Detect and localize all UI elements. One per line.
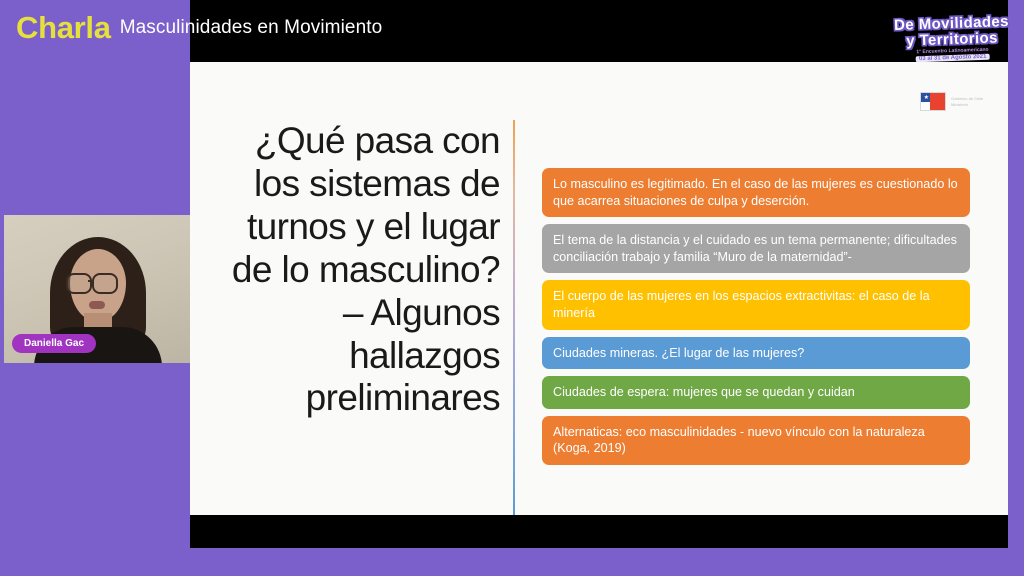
bottom-purple-frame bbox=[0, 548, 1024, 576]
chile-flag-icon: ★ bbox=[920, 92, 946, 111]
glasses-bridge bbox=[88, 280, 94, 282]
event-logo-dates: 03 al 31 de Agosto 2021 bbox=[916, 53, 990, 62]
glasses-right-lens bbox=[92, 273, 118, 294]
flag-star-icon: ★ bbox=[924, 95, 929, 101]
finding-box: El cuerpo de las mujeres en los espacios… bbox=[542, 280, 970, 329]
findings-list: Lo masculino es legitimado. En el caso d… bbox=[542, 168, 970, 465]
header-title: Charla Masculinidades en Movimiento bbox=[16, 10, 382, 46]
finding-box: Ciudades de espera: mujeres que se queda… bbox=[542, 376, 970, 409]
finding-box: El tema de la distancia y el cuidado es … bbox=[542, 224, 970, 273]
finding-box: Lo masculino es legitimado. En el caso d… bbox=[542, 168, 970, 217]
gov-mark-line2: Ministerio bbox=[951, 102, 983, 108]
slide-title: ¿Qué pasa con los sistemas de turnos y e… bbox=[210, 120, 500, 420]
right-purple-frame bbox=[1008, 0, 1024, 576]
slide-bottom-black-strip bbox=[190, 515, 1008, 548]
flag-red-band bbox=[930, 93, 945, 110]
slide-canvas: ★ Gobierno de Chile Ministerio ¿Qué pasa… bbox=[190, 62, 1008, 515]
gov-mark-line1: Gobierno de Chile bbox=[951, 96, 983, 102]
vertical-divider bbox=[513, 120, 515, 515]
finding-box: Alternaticas: eco masculinidades - nuevo… bbox=[542, 416, 970, 465]
glasses-left-lens bbox=[66, 273, 92, 294]
speaker-mouth bbox=[89, 301, 105, 309]
event-logo: De Movilidades y Territorios 1° Encuentr… bbox=[895, 0, 1009, 76]
flag-white-band bbox=[921, 102, 930, 111]
presentation-screen: Charla Masculinidades en Movimiento De M… bbox=[0, 0, 1024, 576]
talk-subtitle: Masculinidades en Movimiento bbox=[120, 17, 383, 39]
government-mark: ★ Gobierno de Chile Ministerio bbox=[920, 92, 983, 111]
video-tile-speaker[interactable]: Daniella Gac bbox=[4, 215, 190, 363]
brand-label: Charla bbox=[16, 10, 111, 46]
finding-box: Ciudades mineras. ¿El lugar de las mujer… bbox=[542, 337, 970, 370]
participant-name-badge: Daniella Gac bbox=[12, 334, 96, 353]
government-mark-text: Gobierno de Chile Ministerio bbox=[951, 96, 983, 108]
